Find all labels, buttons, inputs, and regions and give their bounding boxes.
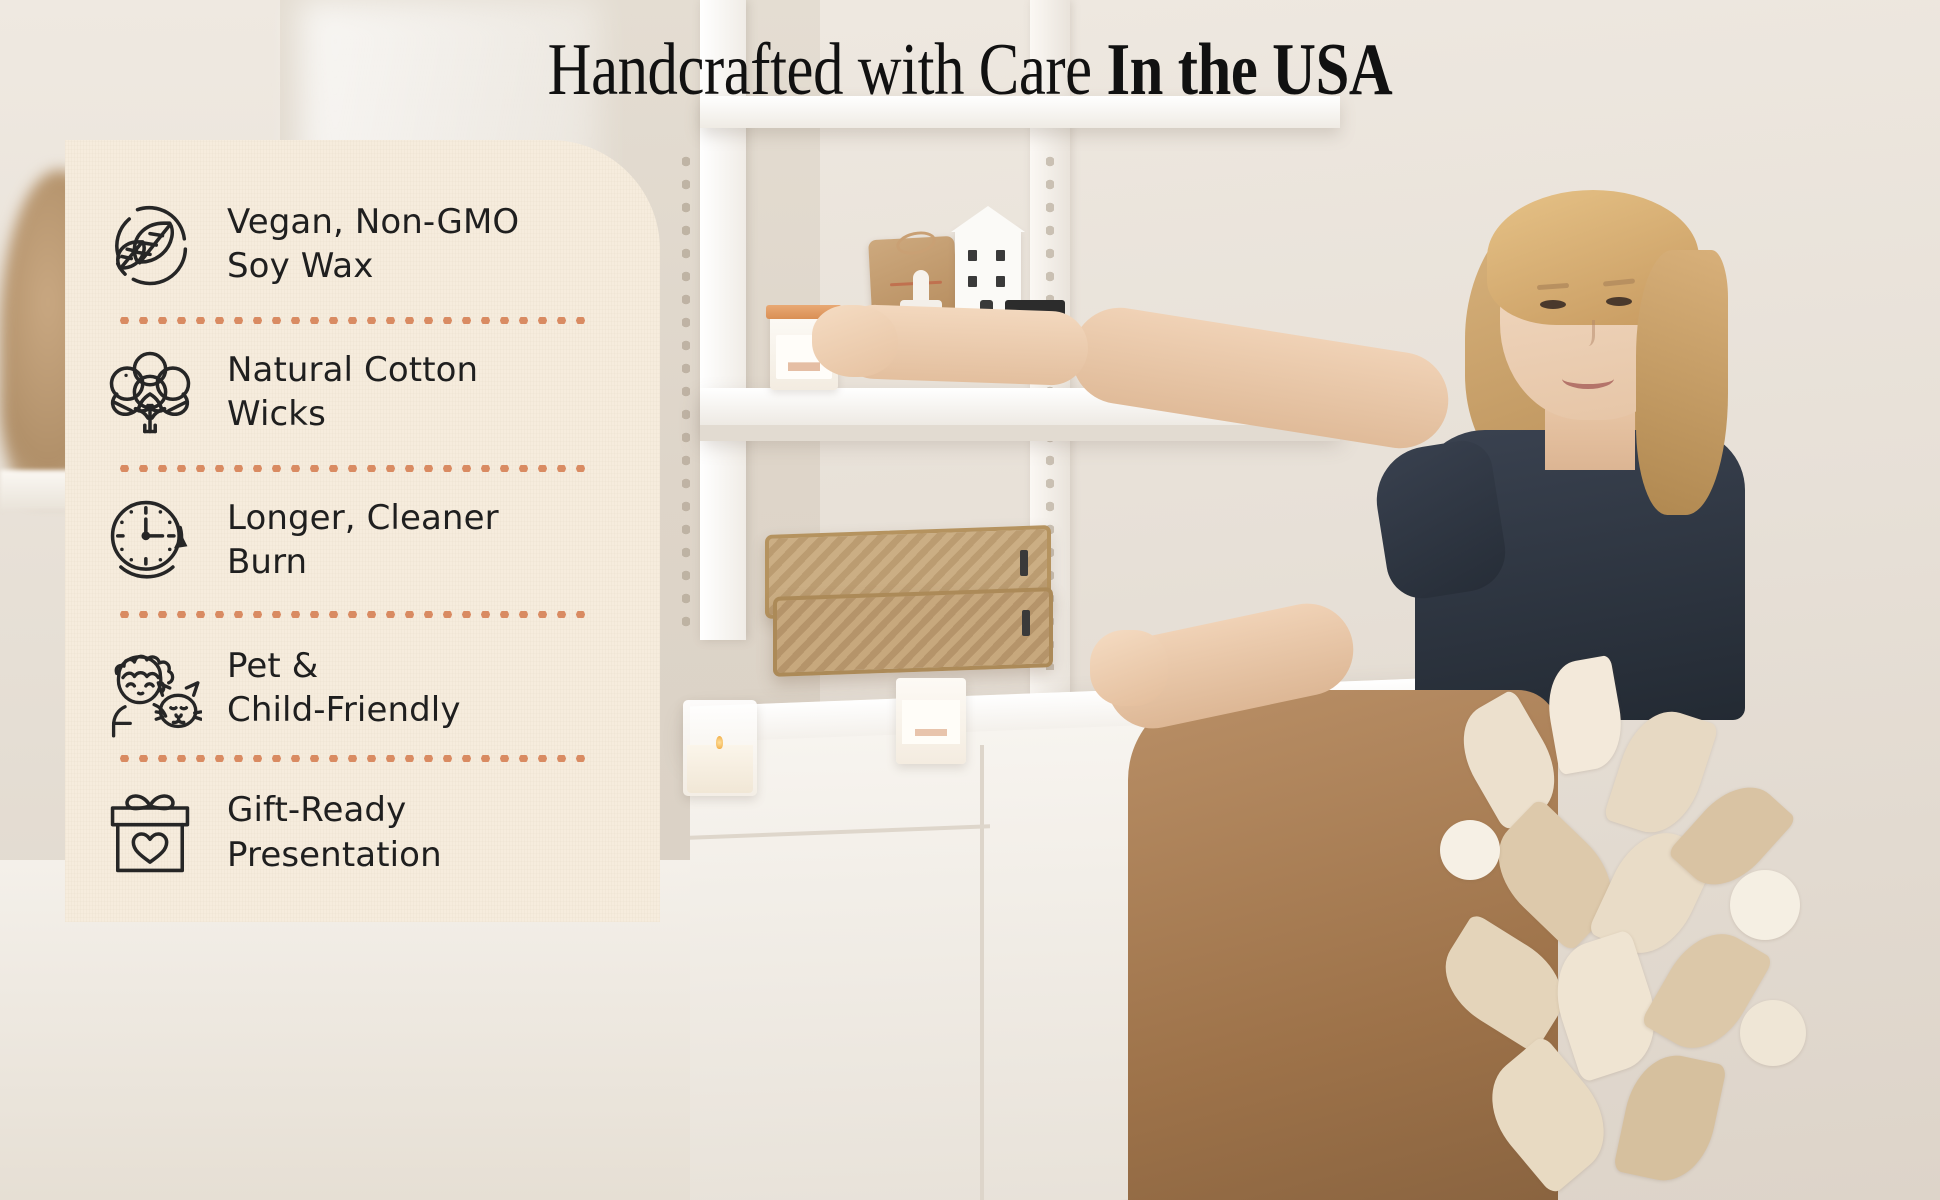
feature-label: Natural Cotton Wicks [227, 348, 478, 436]
house-window [996, 250, 1005, 261]
feature-label: Gift-Ready Presentation [227, 788, 442, 876]
cabinet-seam [980, 745, 984, 1200]
feature-label-line2: Burn [227, 540, 499, 584]
feature-label-line1: Gift-Ready [227, 788, 442, 832]
feature-row: Pet & Child-Friendly [95, 618, 635, 758]
woman-smile [1562, 368, 1614, 389]
dried-flower-arrangement [1440, 640, 1940, 1200]
features-card: Vegan, Non-GMO Soy Wax [65, 140, 660, 922]
woman-eye [1606, 297, 1632, 306]
woman-hand-resting [1090, 630, 1168, 706]
woman-hair-side [1636, 250, 1728, 515]
infographic-canvas: Handcrafted with Care In the USA [0, 0, 1940, 1200]
feature-label: Vegan, Non-GMO Soy Wax [227, 200, 519, 288]
candle-label-artwork [915, 722, 947, 736]
feature-row: Vegan, Non-GMO Soy Wax [95, 174, 635, 314]
leaf-circle-icon [95, 189, 205, 299]
feature-label-line2: Presentation [227, 833, 442, 877]
feature-row: Gift-Ready Presentation [95, 760, 635, 905]
woman-nose [1578, 320, 1595, 346]
house-window [968, 250, 977, 261]
feature-label-line2: Wicks [227, 392, 478, 436]
headline-light-part: Handcrafted with Care [548, 29, 1107, 111]
feature-label: Pet & Child-Friendly [227, 644, 461, 732]
gift-box-heart-icon [95, 778, 205, 888]
woven-basket-bottom [773, 587, 1053, 677]
woman-hand [812, 305, 898, 377]
feature-row: Natural Cotton Wicks [95, 322, 635, 462]
clock-arrow-icon [95, 485, 205, 595]
feature-label-line2: Soy Wax [227, 244, 519, 288]
feature-label-line2: Child-Friendly [227, 688, 461, 732]
headline-bold-part: In the USA [1106, 29, 1392, 111]
feature-label: Longer, Cleaner Burn [227, 496, 499, 584]
cotton-boll-icon [95, 337, 205, 447]
house-window [968, 276, 977, 287]
child-and-cat-icon [95, 633, 205, 743]
feature-label-line1: Vegan, Non-GMO [227, 200, 519, 244]
shelf-board-edge [700, 425, 1340, 441]
basket-clasp [1022, 610, 1030, 636]
candle-flame [716, 736, 723, 749]
woman-eye [1540, 300, 1566, 309]
page-title: Handcrafted with Care In the USA [175, 33, 1766, 107]
basket-clasp [1020, 550, 1028, 576]
feature-label-line1: Longer, Cleaner [227, 496, 499, 540]
shelf-peg-holes-left [682, 150, 690, 630]
candle-wax [687, 745, 753, 793]
feature-label-line1: Natural Cotton [227, 348, 478, 392]
feature-row: Longer, Cleaner Burn [95, 470, 635, 610]
house-window [996, 276, 1005, 287]
dotted-divider [115, 611, 587, 618]
feature-label-line1: Pet & [227, 644, 461, 688]
